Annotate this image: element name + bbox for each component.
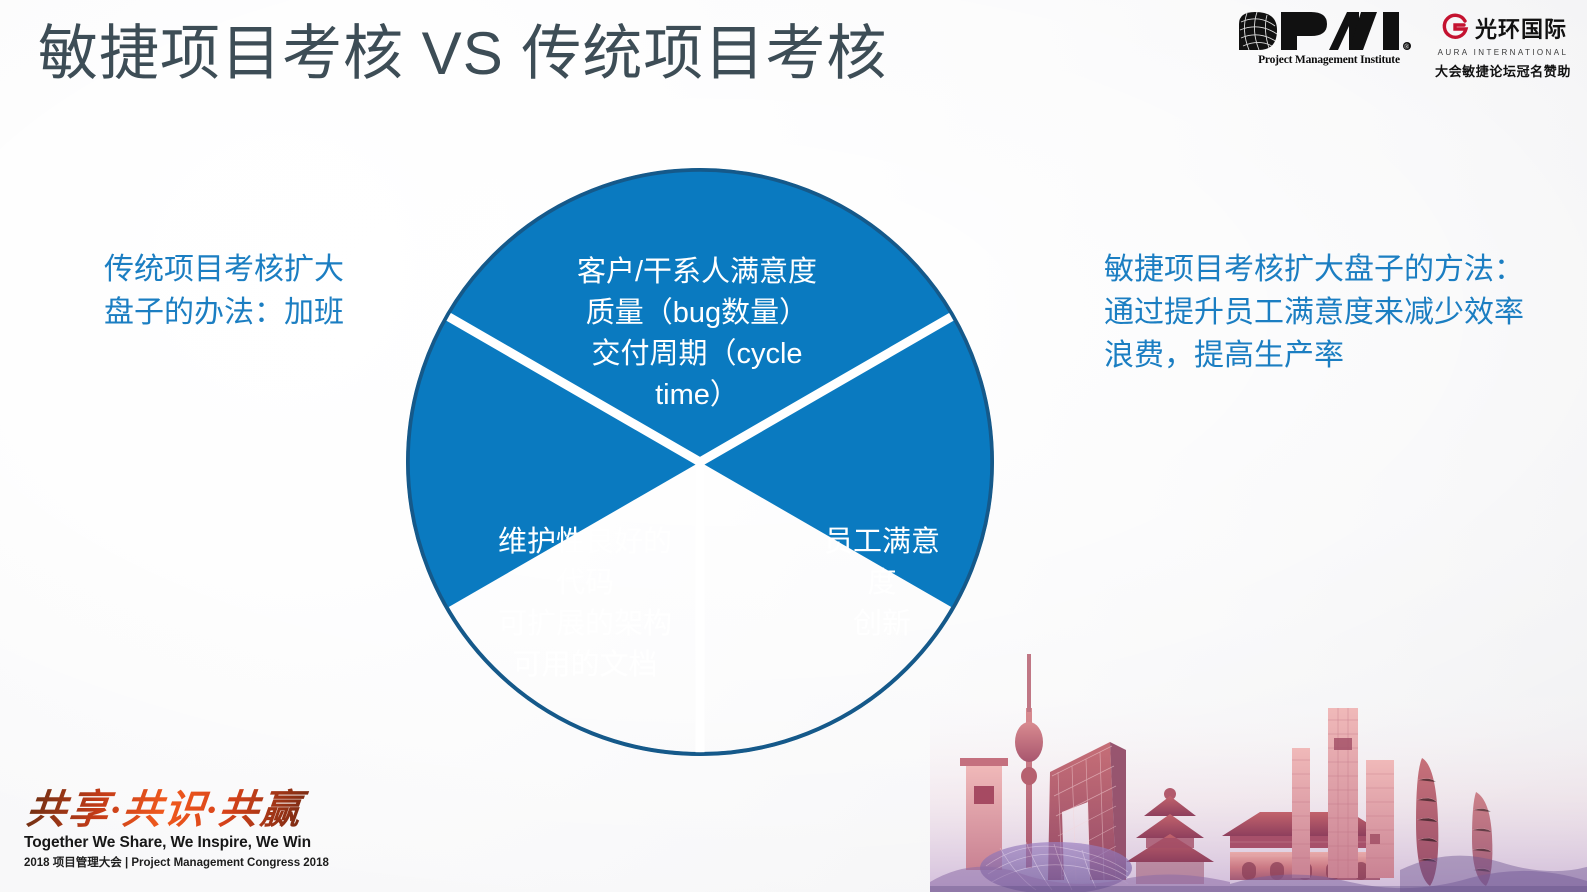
svg-text:®: ® <box>1404 43 1410 51</box>
pmi-logo: ® Project Management Institute <box>1237 10 1421 66</box>
aura-swoosh-icon <box>1439 12 1469 47</box>
aura-logo: 光环国际 AURA INTERNATIONAL 大会敏捷论坛冠名赞助 <box>1435 10 1571 80</box>
slide-canvas: 敏捷项目考核 VS 传统项目考核 <box>0 0 1587 892</box>
aura-logo-top: 光环国际 <box>1439 12 1567 47</box>
congress-brand-logo: 共享·共识·共赢 Together We Share, We Inspire, … <box>24 787 354 870</box>
aura-name-en: AURA INTERNATIONAL <box>1438 48 1569 57</box>
note-agile-right: 敏捷项目考核扩大盘子的方法：通过提升员工满意度来减少效率浪费，提高生产率 <box>1104 248 1524 377</box>
pmi-caption: Project Management Institute <box>1258 54 1400 66</box>
note-traditional-left: 传统项目考核扩大盘子的办法：加班 <box>104 248 354 334</box>
aura-name-cn: 光环国际 <box>1475 18 1567 42</box>
pie-label-customer-quality-cycle: 客户/干系人满意度 质量（bug数量） 交付周期（cycle time） <box>472 252 922 416</box>
logo-group: ® Project Management Institute 光环国际 AURA… <box>1237 10 1571 80</box>
brand-congress-line: 2018 项目管理大会 | Project Management Congres… <box>24 854 354 870</box>
brand-slogan-cn: 共享·共识·共赢 <box>24 787 359 833</box>
pmi-mark-icon: ® <box>1237 10 1421 52</box>
slide-title: 敏捷项目考核 VS 传统项目考核 <box>38 14 1168 94</box>
pie-label-maintainable-code: 维护性良好的 代码 可扩展的架构 可用的文档 <box>440 522 730 686</box>
aura-sponsor-line: 大会敏捷论坛冠名赞助 <box>1435 61 1571 80</box>
pie-label-employee-satisfaction: 员工满意 度 创新 <box>772 522 992 645</box>
brand-slogan-en: Together We Share, We Inspire, We Win <box>24 834 354 852</box>
